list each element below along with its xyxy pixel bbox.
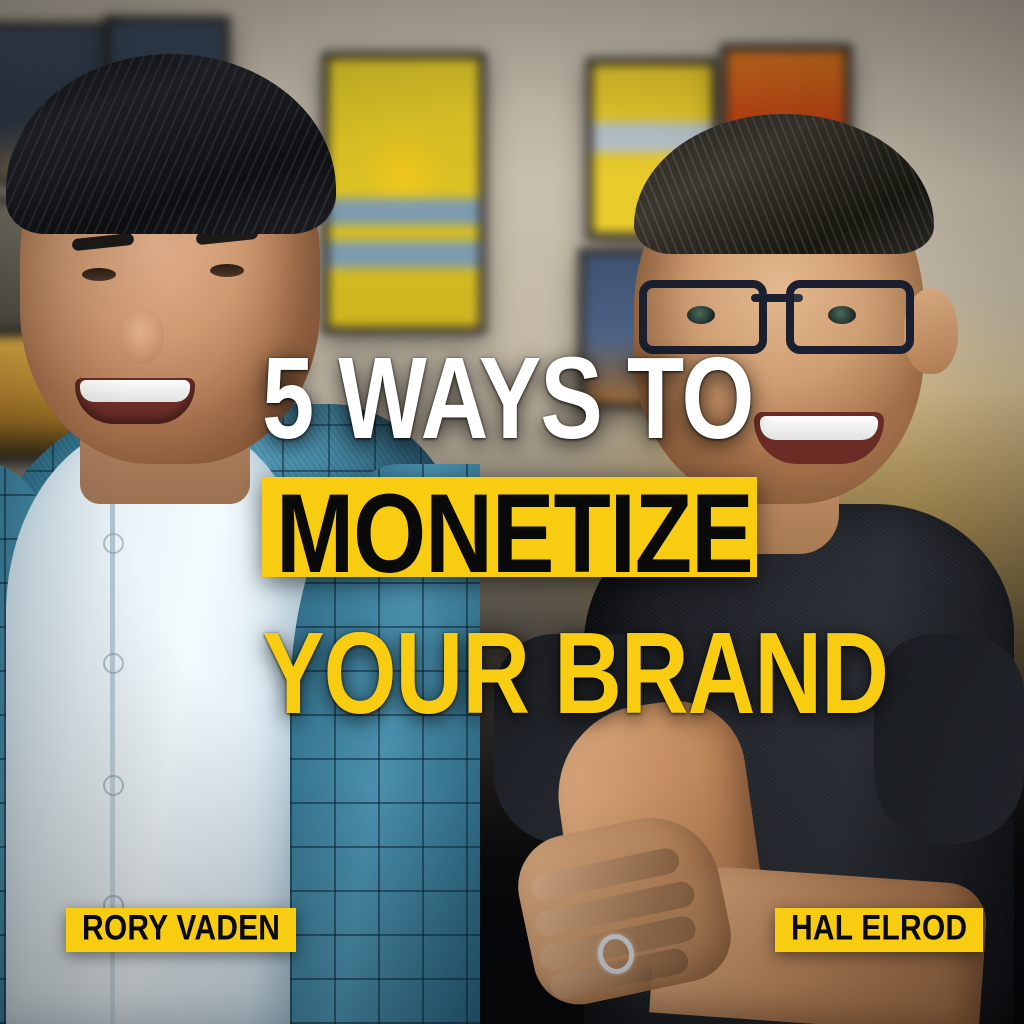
hal-eye-right xyxy=(828,306,856,324)
rory-eye-right xyxy=(210,264,244,277)
rory-shirt-button xyxy=(103,775,124,796)
rory-hair xyxy=(6,54,336,234)
episode-title: 5 WAYS TO MONETIZE YOUR BRAND xyxy=(262,346,782,706)
title-line-1: 5 WAYS TO xyxy=(262,346,792,453)
title-line-3: YOUR BRAND xyxy=(262,621,792,728)
title-line-2-highlighted: MONETIZE xyxy=(276,484,753,585)
name-badge-label: HAL ELROD xyxy=(791,911,967,946)
hal-hair xyxy=(634,114,934,254)
hal-lens-right xyxy=(786,280,914,354)
title-highlight-box: MONETIZE xyxy=(262,477,757,578)
hal-eye-left xyxy=(687,306,715,324)
glasses-icon xyxy=(639,280,914,342)
rory-eye-left xyxy=(82,268,116,281)
rory-teeth xyxy=(80,380,190,402)
name-badge-rory-vaden: RORY VADEN xyxy=(66,908,296,952)
name-badge-label: RORY VADEN xyxy=(82,911,280,946)
name-badge-hal-elrod: HAL ELROD xyxy=(775,908,983,952)
episode-thumbnail: 5 WAYS TO MONETIZE YOUR BRAND RORY VADEN… xyxy=(0,0,1024,1024)
hal-sleeve-right xyxy=(874,634,1024,844)
rory-shirt-button xyxy=(103,533,124,554)
rory-shirt-button xyxy=(103,653,124,674)
rory-nose xyxy=(120,310,164,364)
rory-eyebrow-left xyxy=(72,233,135,251)
